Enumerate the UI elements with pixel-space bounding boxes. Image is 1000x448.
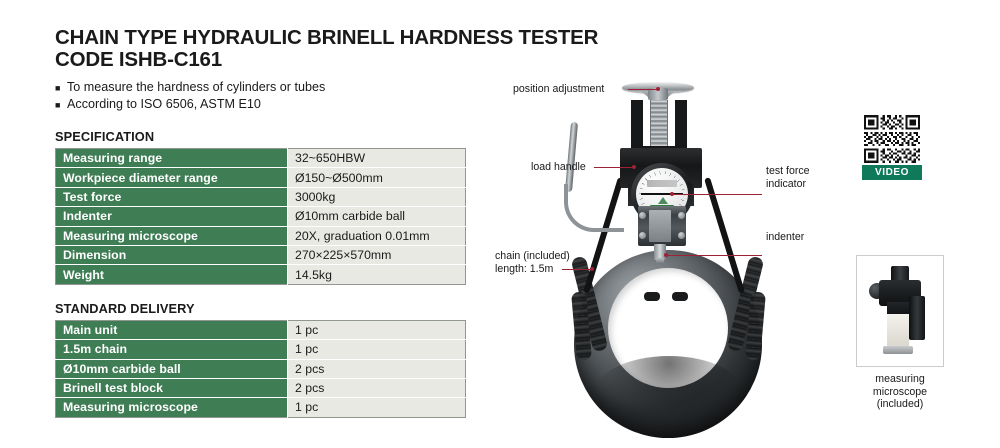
delivery-label: Main unit (56, 320, 288, 339)
table-row: Workpiece diameter range Ø150~Ø500mm (56, 168, 466, 187)
pump-bolt-icon (678, 232, 685, 239)
leader-line-chain (562, 269, 592, 270)
indenter-ball (656, 258, 664, 264)
spec-value: 14.5kg (288, 265, 466, 284)
pump-face-plate (649, 210, 671, 242)
table-row: Dimension 270×225×570mm (56, 245, 466, 264)
microscope-photo (856, 255, 944, 367)
delivery-label: Measuring microscope (56, 398, 288, 417)
callout-test-force-indicator-line2: indicator (766, 178, 806, 190)
table-row: Measuring range 32~650HBW (56, 149, 466, 168)
page-title-line1: CHAIN TYPE HYDRAULIC BRINELL HARDNESS TE… (55, 27, 475, 49)
dial-marker-icon (658, 197, 668, 204)
list-item: ■ According to ISO 6506, ASTM E10 (55, 97, 475, 113)
table-row: 1.5m chain 1 pc (56, 340, 466, 359)
callout-test-force-indicator-line1: test force (766, 165, 810, 177)
microscope-tube (887, 314, 909, 348)
adjustment-screw (650, 100, 668, 152)
microscope-caption: measuring microscope (included) (845, 373, 955, 411)
spec-label: Workpiece diameter range (56, 168, 288, 187)
leader-line-test-force-indicator (672, 194, 762, 195)
table-row: Measuring microscope 1 pc (56, 398, 466, 417)
callout-chain-line2: length: 1.5m (495, 263, 553, 275)
spec-label: Test force (56, 187, 288, 206)
bullet-text: To measure the hardness of cylinders or … (67, 80, 325, 96)
video-badge[interactable]: VIDEO (862, 165, 922, 180)
left-content-column: CHAIN TYPE HYDRAULIC BRINELL HARDNESS TE… (55, 27, 475, 418)
table-row: Test force 3000kg (56, 187, 466, 206)
specification-table: Measuring range 32~650HBW Workpiece diam… (55, 148, 466, 285)
leader-line-position-adjustment (628, 89, 658, 90)
leader-line-load-handle (594, 167, 634, 168)
spec-value: 20X, graduation 0.01mm (288, 226, 466, 245)
pump-bolt-icon (639, 212, 646, 219)
spec-value: 32~650HBW (288, 149, 466, 168)
leader-dot (632, 165, 636, 169)
callout-position-adjustment: position adjustment (513, 83, 604, 95)
load-handle-rod (565, 122, 578, 192)
video-qr-block[interactable]: VIDEO (862, 113, 924, 180)
square-bullet-icon: ■ (55, 97, 67, 113)
pump-bolt-icon (639, 232, 646, 239)
spec-value: Ø10mm carbide ball (288, 207, 466, 226)
leader-line-indenter (666, 255, 762, 256)
square-bullet-icon: ■ (55, 80, 67, 96)
delivery-label: Ø10mm carbide ball (56, 359, 288, 378)
list-item: ■ To measure the hardness of cylinders o… (55, 80, 475, 96)
microscope-caption-line2: microscope (845, 386, 955, 399)
leader-dot (664, 253, 668, 257)
table-row: Ø10mm carbide ball 2 pcs (56, 359, 466, 378)
table-row: Main unit 1 pc (56, 320, 466, 339)
delivery-label: Brinell test block (56, 378, 288, 397)
spec-label: Weight (56, 265, 288, 284)
spec-value: 3000kg (288, 187, 466, 206)
microscope-base (883, 346, 913, 354)
delivery-qty: 2 pcs (288, 378, 466, 397)
feature-bullet-list: ■ To measure the hardness of cylinders o… (55, 80, 475, 113)
load-handle-hose (564, 184, 624, 232)
spec-label: Measuring microscope (56, 226, 288, 245)
leader-dot (656, 87, 660, 91)
table-row: Measuring microscope 20X, graduation 0.0… (56, 226, 466, 245)
delivery-qty: 2 pcs (288, 359, 466, 378)
delivery-qty: 1 pc (288, 398, 466, 417)
microscope-caption-line3: (included) (845, 398, 955, 411)
table-row: Indenter Ø10mm carbide ball (56, 207, 466, 226)
page-title-line2: CODE ISHB-C161 (55, 49, 475, 71)
spec-value: 270×225×570mm (288, 245, 466, 264)
table-row: Weight 14.5kg (56, 265, 466, 284)
spec-label: Indenter (56, 207, 288, 226)
delivery-label: 1.5m chain (56, 340, 288, 359)
callout-indenter: indenter (766, 231, 804, 243)
measuring-microscope-block: measuring microscope (included) (845, 255, 955, 411)
spec-label: Dimension (56, 245, 288, 264)
callout-load-handle: load handle (531, 161, 586, 173)
dial-brand-text (647, 180, 677, 187)
leader-dot (670, 192, 674, 196)
spec-value: Ø150~Ø500mm (288, 168, 466, 187)
table-row: Brinell test block 2 pcs (56, 378, 466, 397)
delivery-qty: 1 pc (288, 340, 466, 359)
qr-code-icon[interactable] (862, 113, 922, 165)
product-diagram: position adjustment load handle test for… (490, 60, 840, 448)
leg-foot-left (644, 292, 660, 301)
standard-delivery-heading: STANDARD DELIVERY (55, 301, 475, 316)
pipe-shadow (594, 356, 744, 432)
bullet-text: According to ISO 6506, ASTM E10 (67, 97, 261, 113)
leader-dot (590, 267, 594, 271)
specification-heading: SPECIFICATION (55, 129, 475, 144)
spec-label: Measuring range (56, 149, 288, 168)
leg-foot-right (672, 292, 688, 301)
microscope-illuminator (909, 296, 925, 340)
callout-chain-line1: chain (included) (495, 250, 570, 262)
delivery-qty: 1 pc (288, 320, 466, 339)
microscope-caption-line1: measuring (845, 373, 955, 386)
pump-bolt-icon (678, 212, 685, 219)
standard-delivery-table: Main unit 1 pc 1.5m chain 1 pc Ø10mm car… (55, 320, 466, 418)
